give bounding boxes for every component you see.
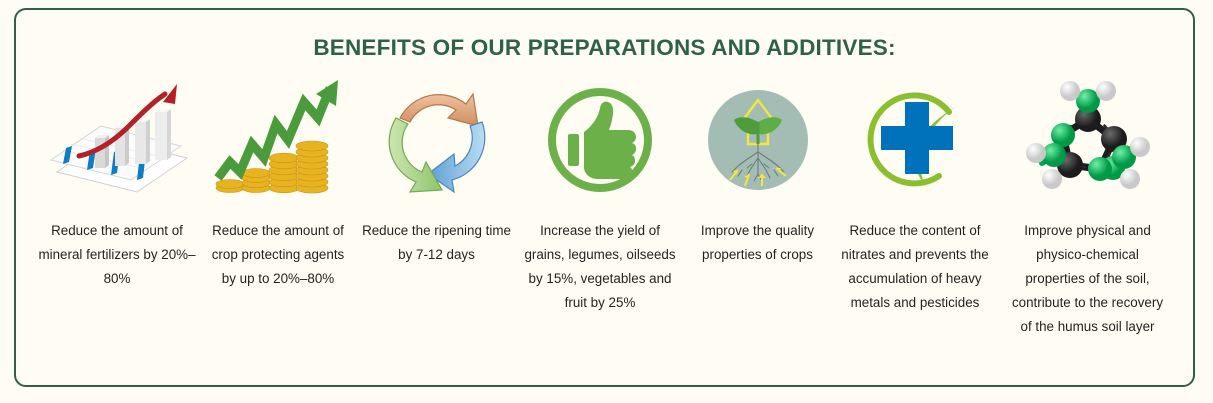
plant-roots-circle-icon [700, 75, 816, 205]
benefit-card-mineral-fertilizers: Reduce the amount of mineral fertilizers… [32, 75, 202, 291]
coins-growth-arrow-icon [208, 75, 348, 205]
benefit-card-soil-properties: Improve physical and physico-chemical pr… [996, 75, 1179, 339]
benefit-caption: Reduce the amount of mineral fertilizers… [38, 219, 196, 291]
benefits-list: Reduce the amount of mineral fertilizers… [16, 61, 1193, 339]
benefit-caption: Increase the yield of grains, legumes, o… [524, 219, 676, 315]
benefits-panel: BENEFITS OF OUR PREPARATIONS AND ADDITIV… [14, 8, 1195, 387]
benefit-caption: Improve the quality properties of crops [688, 219, 828, 267]
benefit-card-nitrates-reduction: Reduce the content of nitrates and preve… [834, 75, 996, 315]
bar-chart-growth-icon [37, 75, 197, 205]
benefit-caption: Reduce the content of nitrates and preve… [838, 219, 993, 315]
page-title: BENEFITS OF OUR PREPARATIONS AND ADDITIV… [16, 35, 1193, 61]
benefit-caption: Reduce the ripening time by 7-12 days [355, 219, 518, 267]
benefit-caption: Reduce the amount of crop protecting age… [203, 219, 353, 291]
recycle-cycle-arrows-icon [374, 75, 499, 205]
benefit-card-ripening-time: Reduce the ripening time by 7-12 days [354, 75, 519, 267]
benefit-card-crop-protecting-agents: Reduce the amount of crop protecting age… [202, 75, 354, 291]
benefit-caption: Improve physical and physico-chemical pr… [1008, 219, 1168, 339]
benefit-card-quality-properties: Improve the quality properties of crops [681, 75, 834, 267]
molecule-structure-icon [1018, 75, 1158, 205]
benefit-card-yield-increase: Increase the yield of grains, legumes, o… [519, 75, 681, 315]
medical-cross-leaf-icon [853, 75, 977, 205]
thumbs-up-circle-icon [540, 75, 660, 205]
